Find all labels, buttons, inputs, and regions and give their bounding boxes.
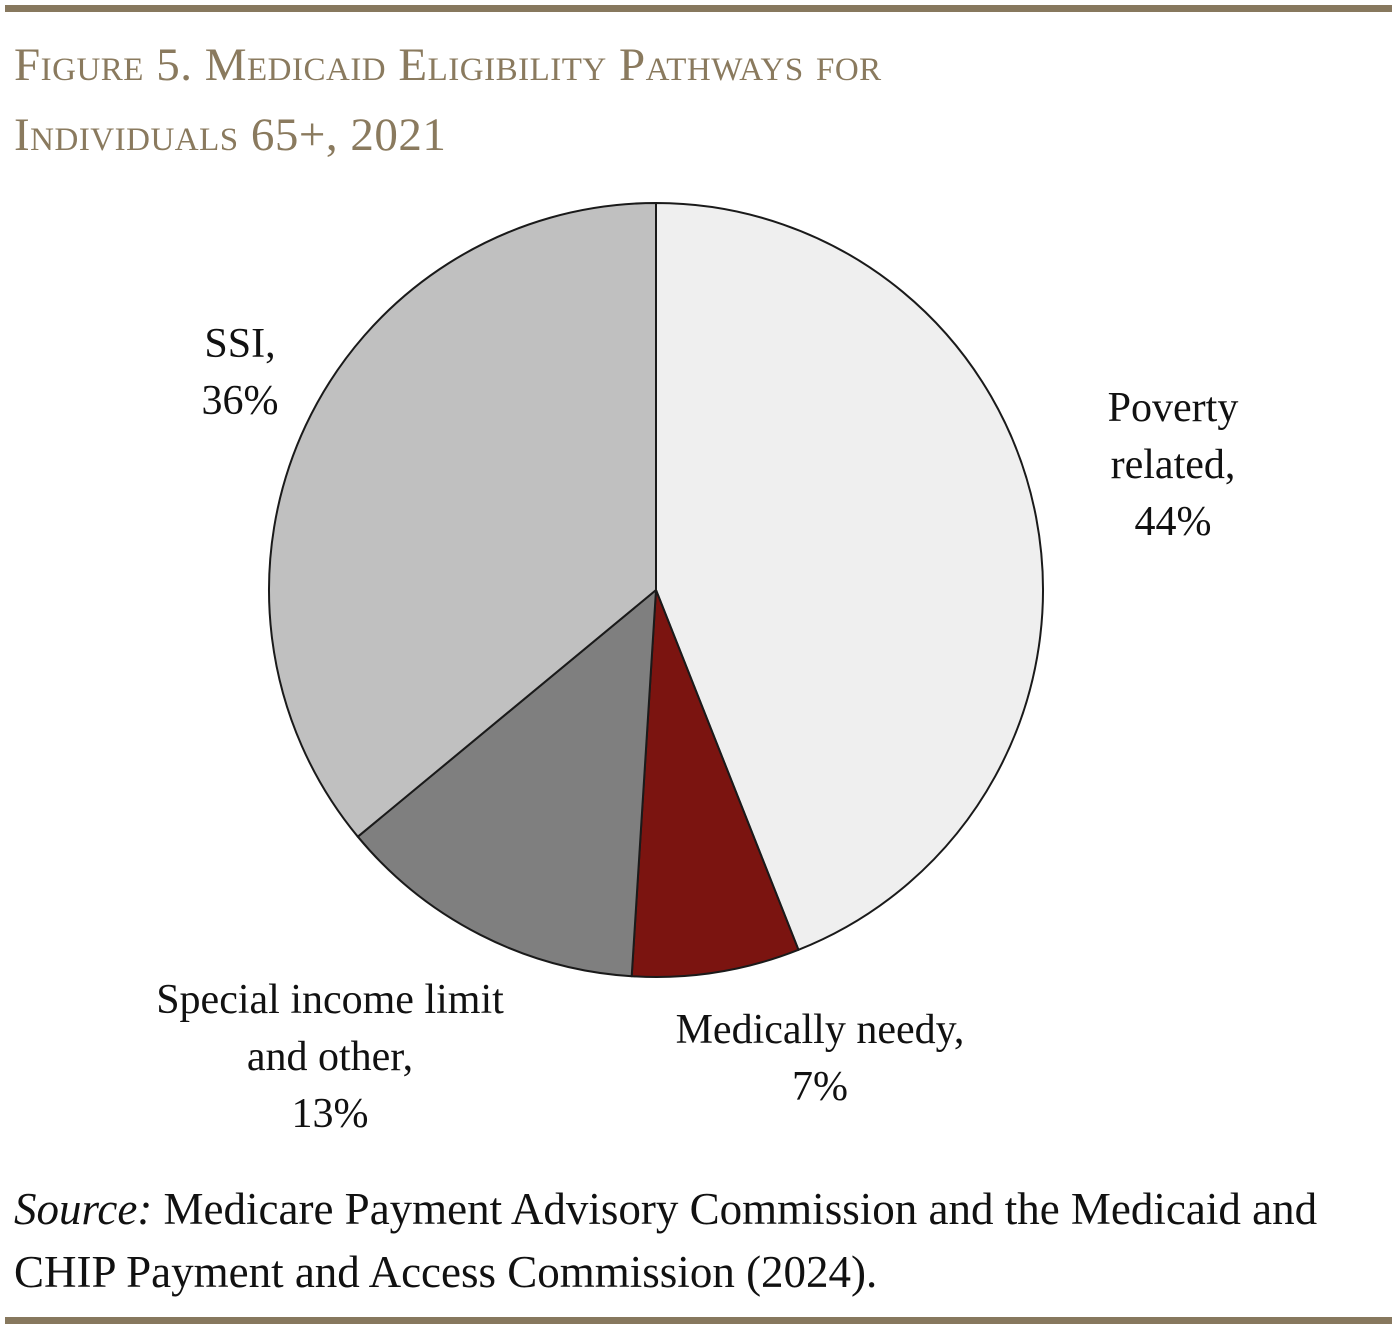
source-note: Source: Medicare Payment Advisory Commis… <box>14 1178 1386 1304</box>
source-text: Medicare Payment Advisory Commission and… <box>14 1184 1317 1297</box>
pie-label-poverty-related: Poverty related, 44% <box>1038 380 1308 551</box>
bottom-divider-rule <box>5 1317 1392 1324</box>
pie-chart: SSI, 36% Poverty related, 44% Special in… <box>0 170 1400 1160</box>
figure-title-line-2: Individuals 65+, 2021 <box>14 100 1354 170</box>
pie-label-ssi: SSI, 36% <box>120 316 360 430</box>
pie-label-medically-needy: Medically needy, 7% <box>610 1002 1030 1116</box>
figure-title: Figure 5. Medicaid Eligibility Pathways … <box>14 30 1354 170</box>
pie-slice-group <box>269 203 1043 977</box>
figure-container: Figure 5. Medicaid Eligibility Pathways … <box>0 0 1400 1332</box>
figure-title-line-1: Figure 5. Medicaid Eligibility Pathways … <box>14 30 1354 100</box>
top-divider-rule <box>5 5 1392 12</box>
pie-label-special-income-limit-and-other: Special income limit and other, 13% <box>70 972 590 1143</box>
source-label: Source: <box>14 1184 152 1234</box>
